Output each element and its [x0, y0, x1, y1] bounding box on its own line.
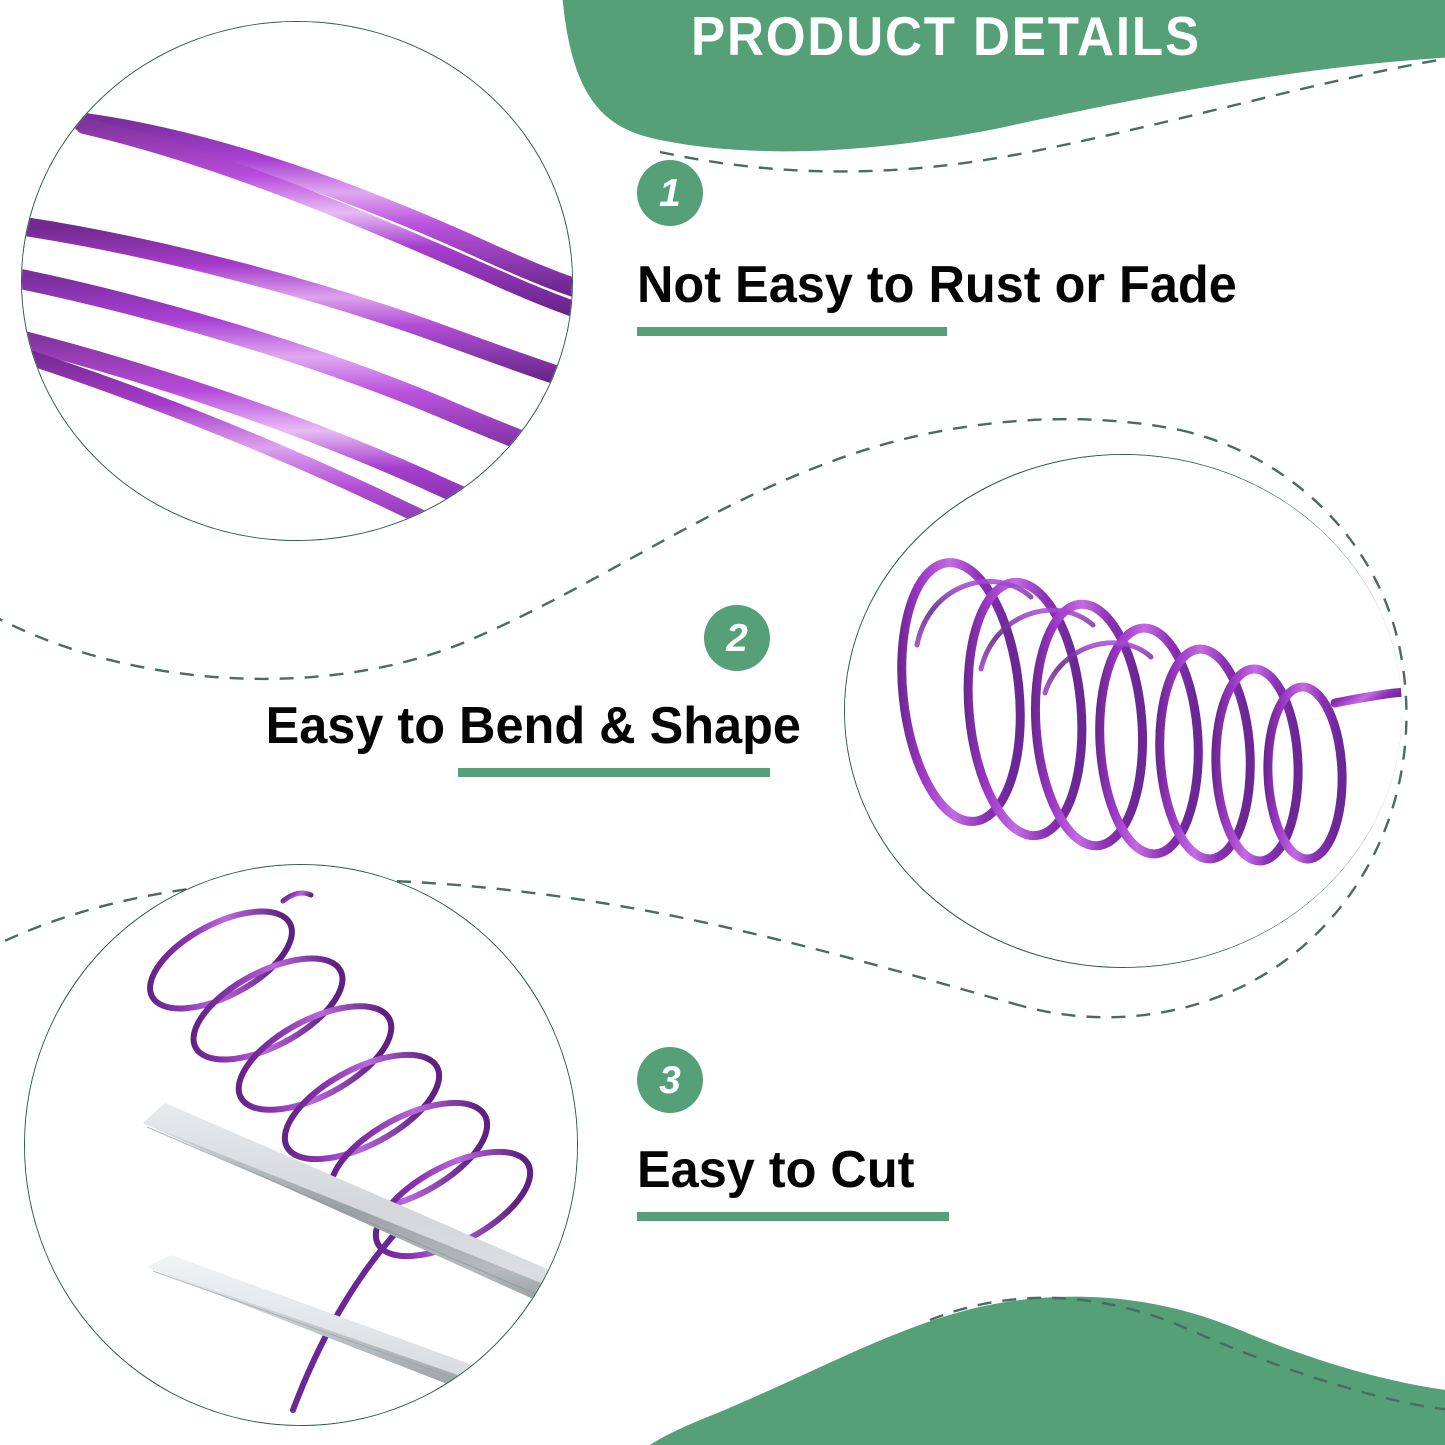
- scissors-cutting-wire-illustration: [25, 865, 577, 1425]
- feature-badge-2: 2: [704, 605, 770, 671]
- purple-wire-strands-photo: [22, 22, 572, 540]
- feature-title-2: Easy to Bend & Shape: [266, 699, 770, 754]
- feature-badge-number-3: 3: [659, 1061, 681, 1100]
- feature-underline-1: [637, 327, 947, 336]
- feature-title-1: Not Easy to Rust or Fade: [637, 258, 1237, 313]
- feature-title-3: Easy to Cut: [637, 1143, 940, 1198]
- feature-badge-number-2: 2: [726, 619, 748, 658]
- feature-badge-number-1: 1: [659, 174, 681, 213]
- purple-wire-coil-illustration: [845, 455, 1402, 967]
- purple-wire-strands-illustration: [22, 22, 572, 540]
- feature-block-1: 1 Not Easy to Rust or Fade: [637, 160, 1255, 336]
- product-details-infographic: PRODUCT DETAILS: [0, 0, 1445, 1445]
- scissors-cutting-wire-photo: [25, 865, 577, 1425]
- page-title: PRODUCT DETAILS: [621, 4, 1272, 68]
- feature-block-2: 2 Easy to Bend & Shape: [250, 605, 770, 777]
- feature-badge-1: 1: [637, 160, 703, 226]
- purple-wire-coil-photo: [845, 455, 1402, 967]
- feature-underline-2: [458, 768, 770, 777]
- feature-badge-3: 3: [637, 1047, 703, 1113]
- feature-block-3: 3 Easy to Cut: [637, 1047, 949, 1221]
- feature-underline-3: [637, 1212, 949, 1221]
